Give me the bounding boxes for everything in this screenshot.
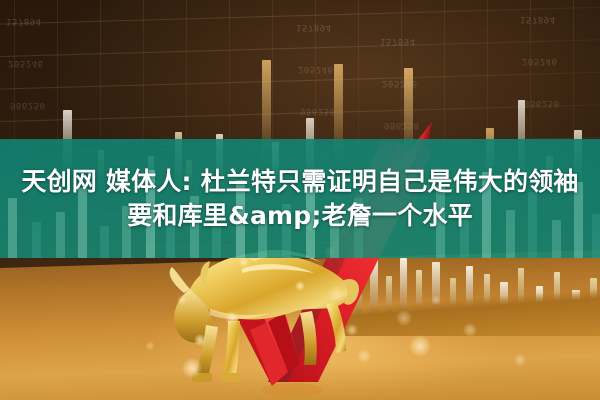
bokeh-dot xyxy=(194,334,206,346)
bokeh-dot xyxy=(396,310,412,326)
banner-image: 1578942052469862507050010989015789420524… xyxy=(0,0,600,400)
bokeh-dot xyxy=(346,324,358,336)
bokeh-dot xyxy=(514,354,526,366)
bokeh-dot xyxy=(463,323,477,337)
bokeh-dot xyxy=(145,341,155,351)
bokeh-dot xyxy=(225,311,239,325)
caption-text-block: 天创网 媒体人: 杜兰特只需证明自己是伟大的领袖 要和库里&amp;老詹一个水平 xyxy=(0,139,600,258)
caption-line-2: 要和库里&amp;老詹一个水平 xyxy=(127,202,473,230)
caption-line-1: 天创网 媒体人: 杜兰特只需证明自己是伟大的领袖 xyxy=(21,168,578,196)
bokeh-dot xyxy=(177,295,187,305)
bokeh-dot xyxy=(431,295,441,305)
bokeh-dot xyxy=(409,335,431,357)
bokeh-dot xyxy=(327,285,345,303)
bokeh-dot xyxy=(182,358,202,378)
bokeh-dot xyxy=(295,281,305,291)
bokeh-dot xyxy=(357,349,371,363)
